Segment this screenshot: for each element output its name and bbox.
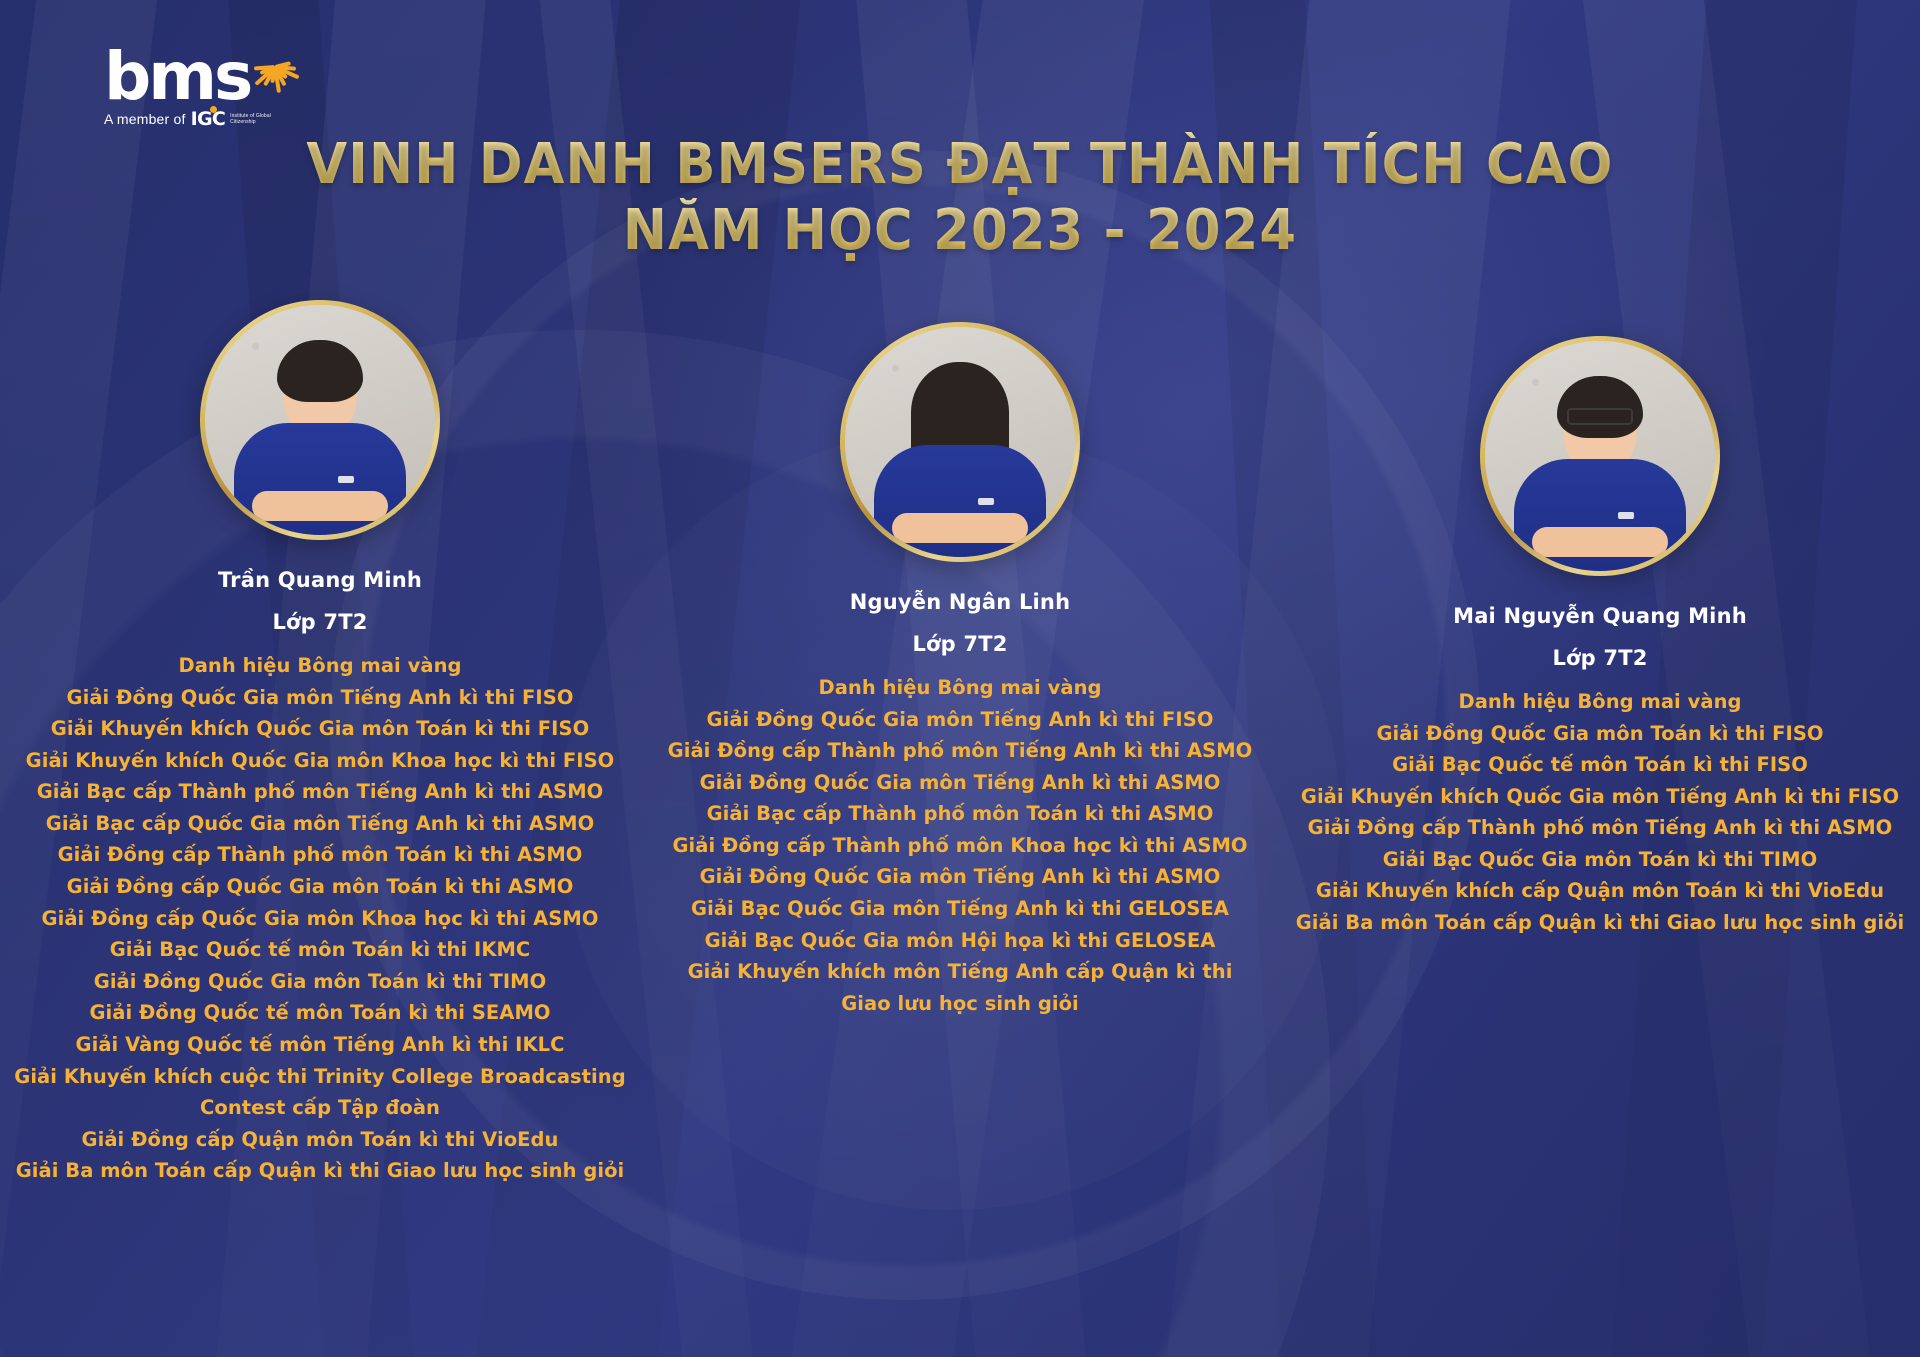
achievement-item: Giải Đồng cấp Thành phố môn Tiếng Anh kì… <box>1280 812 1920 844</box>
igc-tagline: Institute of Global Citizenship <box>230 113 284 126</box>
logo-wordmark: bms <box>104 50 250 104</box>
achievement-list-3: Danh hiệu Bông mai vàngGiải Đồng Quốc Gi… <box>1280 686 1920 939</box>
achievement-item: Giải Đồng cấp Quốc Gia môn Khoa học kì t… <box>0 903 640 935</box>
igc-wordmark: IGC <box>191 108 226 130</box>
student-name: Nguyễn Ngân Linh <box>850 590 1070 614</box>
achievement-item: Giải Bạc Quốc tế môn Toán kì thi FISO <box>1280 749 1920 781</box>
member-of-label: A member of <box>104 111 186 127</box>
logo-wordmark-row: bms <box>104 38 344 104</box>
student-class: Lớp 7T2 <box>272 610 367 634</box>
achievement-item: Giải Bạc Quốc tế môn Toán kì thi IKMC <box>0 934 640 966</box>
igc-logo: IGC <box>191 108 226 130</box>
logo-member-row: A member of IGC Institute of Global Citi… <box>104 108 344 130</box>
students-grid: Trần Quang Minh Lớp 7T2 Danh hiệu Bông m… <box>0 300 1920 1187</box>
achievement-item: Giải Đồng Quốc Gia môn Toán kì thi TIMO <box>0 966 640 998</box>
student-class: Lớp 7T2 <box>912 632 1007 656</box>
avatar-ring-2 <box>840 322 1080 562</box>
achievement-item: Giải Vàng Quốc tế môn Tiếng Anh kì thi I… <box>0 1029 640 1061</box>
student-card-1: Trần Quang Minh Lớp 7T2 Danh hiệu Bông m… <box>0 300 640 1187</box>
achievement-item: Giải Bạc cấp Thành phố môn Toán kì thi A… <box>640 798 1280 830</box>
student-card-3: Mai Nguyễn Quang Minh Lớp 7T2 Danh hiệu … <box>1280 336 1920 939</box>
photo-arms <box>892 513 1028 543</box>
achievement-item: Contest cấp Tập đoàn <box>0 1092 640 1124</box>
page-title: VINH DANH BMSERS ĐẠT THÀNH TÍCH CAO NĂM … <box>0 132 1920 264</box>
student-name: Mai Nguyễn Quang Minh <box>1453 604 1747 628</box>
achievement-item: Giải Đồng Quốc Gia môn Tiếng Anh kì thi … <box>640 767 1280 799</box>
avatar <box>845 327 1075 557</box>
title-line-1: VINH DANH BMSERS ĐẠT THÀNH TÍCH CAO <box>58 132 1863 198</box>
uniform-logo-icon <box>338 476 354 483</box>
achievement-item: Giải Khuyến khích Quốc Gia môn Khoa học … <box>0 745 640 777</box>
achievement-item: Giao lưu học sinh giỏi <box>640 988 1280 1020</box>
eyeglasses-icon <box>1567 408 1633 425</box>
achievement-list-1: Danh hiệu Bông mai vàngGiải Đồng Quốc Gi… <box>0 650 640 1187</box>
achievement-item: Giải Đồng Quốc Gia môn Tiếng Anh kì thi … <box>640 861 1280 893</box>
achievement-item: Giải Ba môn Toán cấp Quận kì thi Giao lư… <box>1280 907 1920 939</box>
achievement-item: Giải Đồng cấp Quốc Gia môn Toán kì thi A… <box>0 871 640 903</box>
achievement-item: Giải Bạc Quốc Gia môn Tiếng Anh kì thi G… <box>640 893 1280 925</box>
achievement-item: Danh hiệu Bông mai vàng <box>1280 686 1920 718</box>
achievement-item: Giải Khuyến khích cấp Quận môn Toán kì t… <box>1280 875 1920 907</box>
achievement-item: Giải Bạc cấp Thành phố môn Tiếng Anh kì … <box>0 776 640 808</box>
achievement-item: Giải Khuyến khích cuộc thi Trinity Colle… <box>0 1061 640 1093</box>
achievement-item: Danh hiệu Bông mai vàng <box>0 650 640 682</box>
avatar <box>1485 341 1715 571</box>
student-class: Lớp 7T2 <box>1552 646 1647 670</box>
achievement-item: Giải Đồng Quốc tế môn Toán kì thi SEAMO <box>0 997 640 1029</box>
achievement-list-2: Danh hiệu Bông mai vàngGiải Đồng Quốc Gi… <box>640 672 1280 1019</box>
achievement-item: Giải Bạc cấp Quốc Gia môn Tiếng Anh kì t… <box>0 808 640 840</box>
achievement-item: Giải Khuyến khích môn Tiếng Anh cấp Quận… <box>640 956 1280 988</box>
achievement-item: Giải Bạc Quốc Gia môn Hội họa kì thi GEL… <box>640 925 1280 957</box>
poster-canvas: bms A member of IGC Institute of Global … <box>0 0 1920 1357</box>
avatar-ring-1 <box>200 300 440 540</box>
student-card-2: Nguyễn Ngân Linh Lớp 7T2 Danh hiệu Bông … <box>640 322 1280 1019</box>
achievement-item: Giải Ba môn Toán cấp Quận kì thi Giao lư… <box>0 1155 640 1187</box>
achievement-item: Giải Khuyến khích Quốc Gia môn Toán kì t… <box>0 713 640 745</box>
bms-logo: bms A member of IGC Institute of Global … <box>104 38 344 130</box>
uniform-logo-icon <box>978 498 994 505</box>
achievement-item: Danh hiệu Bông mai vàng <box>640 672 1280 704</box>
avatar-ring-3 <box>1480 336 1720 576</box>
achievement-item: Giải Đồng cấp Quận môn Toán kì thi VioEd… <box>0 1124 640 1156</box>
uniform-logo-icon <box>1618 512 1634 519</box>
achievement-item: Giải Khuyến khích Quốc Gia môn Tiếng Anh… <box>1280 781 1920 813</box>
avatar <box>205 305 435 535</box>
achievement-item: Giải Đồng cấp Thành phố môn Toán kì thi … <box>0 839 640 871</box>
achievement-item: Giải Đồng cấp Thành phố môn Tiếng Anh kì… <box>640 735 1280 767</box>
achievement-item: Giải Đồng Quốc Gia môn Tiếng Anh kì thi … <box>0 682 640 714</box>
title-line-2: NĂM HỌC 2023 - 2024 <box>58 198 1863 264</box>
achievement-item: Giải Đồng cấp Thành phố môn Khoa học kì … <box>640 830 1280 862</box>
student-name: Trần Quang Minh <box>218 568 422 592</box>
photo-arms <box>252 491 388 521</box>
achievement-item: Giải Bạc Quốc Gia môn Toán kì thi TIMO <box>1280 844 1920 876</box>
sun-burst-icon <box>246 38 304 96</box>
achievement-item: Giải Đồng Quốc Gia môn Tiếng Anh kì thi … <box>640 704 1280 736</box>
photo-arms <box>1532 527 1668 557</box>
achievement-item: Giải Đồng Quốc Gia môn Toán kì thi FISO <box>1280 718 1920 750</box>
